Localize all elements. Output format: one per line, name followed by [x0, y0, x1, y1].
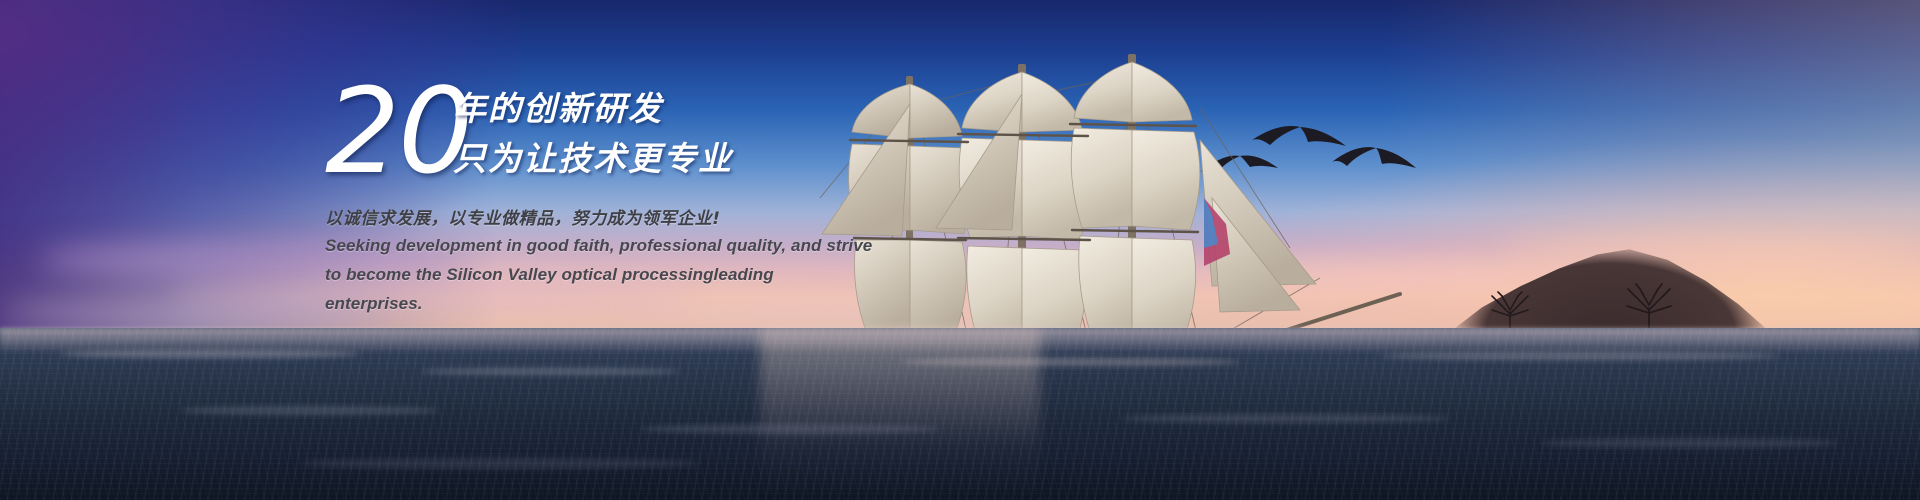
bare-tree-icon: [1480, 290, 1540, 332]
wave-crest: [900, 358, 1240, 366]
subtitle-block: 以诚信求发展，以专业做精品，努力成为领军企业! Seeking developm…: [325, 206, 945, 319]
banner-copy: 20 年的创新研发 只为让技术更专业 以诚信求发展，以专业做精品，努力成为领军企…: [325, 78, 945, 319]
subtitle-english-line-3: enterprises.: [325, 290, 805, 319]
hero-banner: 20 年的创新研发 只为让技术更专业 以诚信求发展，以专业做精品，努力成为领军企…: [0, 0, 1920, 500]
ocean-waves: [0, 328, 1920, 500]
wave-crest: [180, 406, 440, 415]
wave-crest: [60, 350, 360, 358]
wave-crest: [300, 458, 700, 469]
headline-line-2: 只为让技术更专业: [453, 134, 733, 184]
cloud-band: [0, 300, 380, 326]
wave-crest: [1540, 438, 1840, 448]
headline-chinese: 年的创新研发 只为让技术更专业: [453, 84, 733, 184]
headline-line-1: 年的创新研发: [453, 84, 733, 134]
subtitle-english: Seeking development in good faith, profe…: [325, 232, 805, 319]
cloud-band: [1500, 235, 1920, 265]
years-number: 20: [325, 72, 471, 190]
wave-crest: [420, 368, 680, 375]
wave-crest: [640, 424, 940, 434]
subtitle-english-line-2: to become the Silicon Valley optical pro…: [325, 261, 805, 290]
headline: 20 年的创新研发 只为让技术更专业: [325, 78, 945, 188]
wave-crest: [1120, 414, 1450, 423]
subtitle-english-line-1: Seeking development in good faith, profe…: [325, 232, 805, 261]
subtitle-chinese: 以诚信求发展，以专业做精品，努力成为领军企业!: [325, 206, 945, 232]
wave-crest: [1380, 352, 1780, 360]
bare-tree-icon: [1613, 282, 1685, 332]
